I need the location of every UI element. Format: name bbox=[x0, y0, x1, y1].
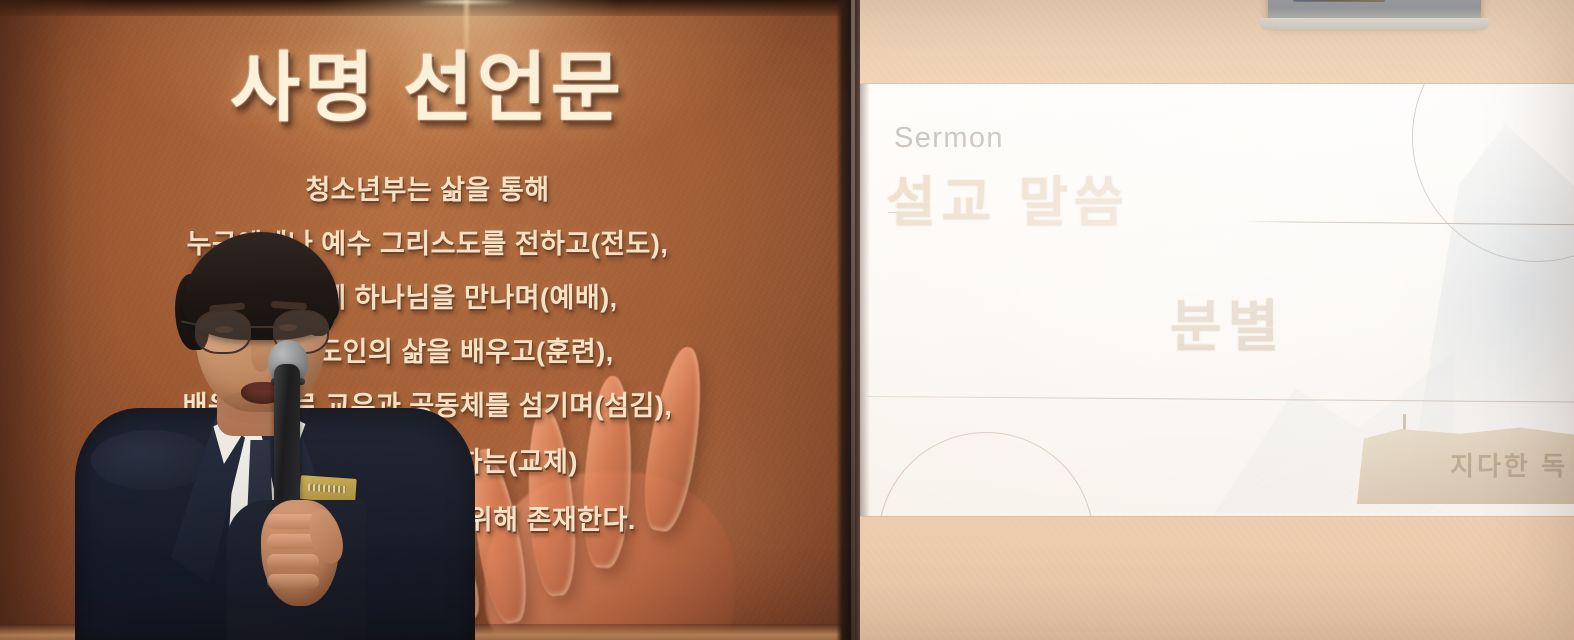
tablet-pin bbox=[1403, 414, 1406, 430]
banner-line-1: 청소년부는 삶을 통해 bbox=[0, 168, 855, 207]
screen-left-shadow bbox=[860, 84, 870, 516]
wall-corner-edge bbox=[836, 0, 860, 640]
finger-knuckle bbox=[267, 574, 319, 589]
glasses-bridge bbox=[251, 326, 275, 328]
shoulder-highlight bbox=[91, 430, 211, 490]
lens-left bbox=[195, 310, 251, 354]
banner-title: 사명 선언문 bbox=[0, 26, 855, 136]
speaker-with-microphone bbox=[75, 232, 475, 640]
tablet-text: 지다한 독 bbox=[1450, 446, 1568, 483]
device-display-panel bbox=[1293, 0, 1385, 2]
slide-heading: 설교 말씀 bbox=[886, 158, 1130, 237]
name-badge bbox=[299, 475, 357, 503]
scene-root: 사명 선언문 청소년부는 삶을 통해 누구에게나 예수 그리스도를 전하고(전도… bbox=[0, 0, 1574, 640]
slide-eyebrow-label: Sermon bbox=[894, 122, 1004, 155]
right-wall: Sermon 설교 말씀 분별 지다한 독 bbox=[855, 0, 1574, 640]
wall-corner-highlight bbox=[851, 0, 855, 640]
projection-screen: Sermon 설교 말씀 분별 지다한 독 bbox=[860, 84, 1574, 516]
device-mount-base bbox=[1260, 18, 1489, 30]
slide-topic: 분별 bbox=[1170, 282, 1285, 363]
finger-knuckle bbox=[267, 554, 319, 569]
